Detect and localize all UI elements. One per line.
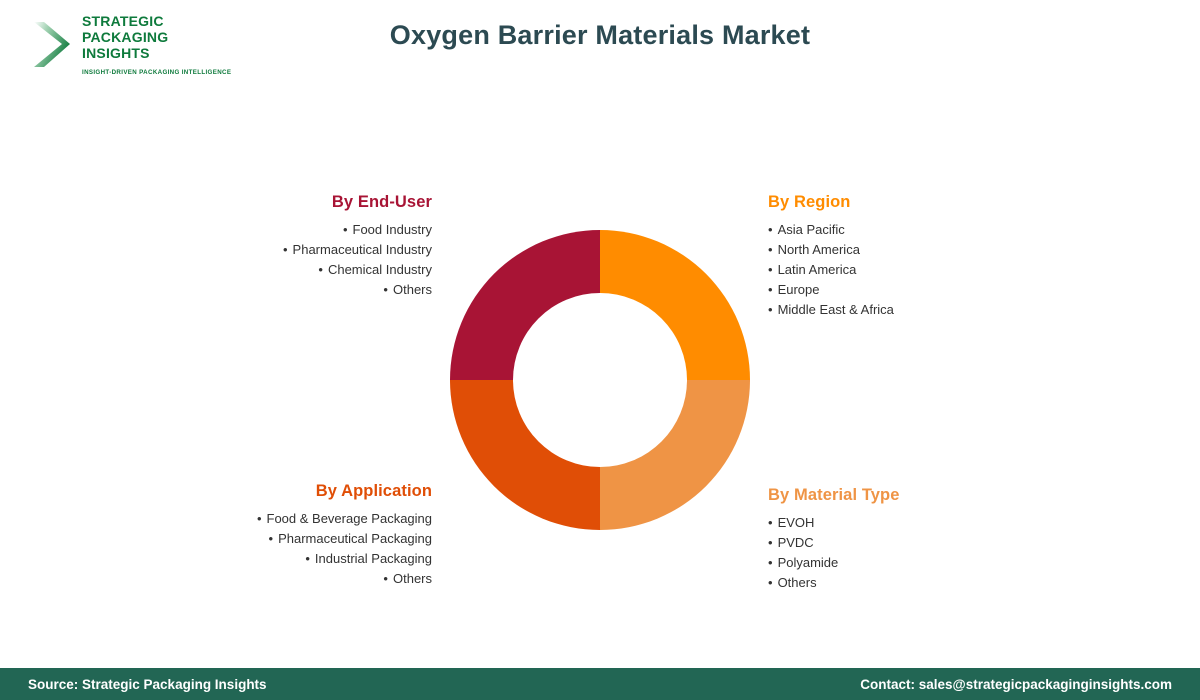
list-item-label: Others [778, 575, 817, 590]
category-list-end-user: •Food Industry •Pharmaceutical Industry … [150, 220, 432, 300]
list-item-label: Pharmaceutical Packaging [278, 531, 432, 546]
list-item: •Others [768, 573, 1068, 593]
infographic-page: STRATEGIC PACKAGING INSIGHTS INSIGHT-DRI… [0, 0, 1200, 700]
page-title: Oxygen Barrier Materials Market [0, 20, 1200, 51]
list-item: •EVOH [768, 513, 1068, 533]
category-heading-region: By Region [768, 193, 1068, 212]
bullet-icon: • [283, 242, 288, 257]
list-item: •Industrial Packaging [130, 549, 432, 569]
list-item-label: Asia Pacific [778, 222, 845, 237]
list-item-label: Latin America [778, 262, 857, 277]
list-item-label: Food Industry [353, 222, 433, 237]
list-item-label: PVDC [778, 535, 814, 550]
footer-bar: Source: Strategic Packaging Insights Con… [0, 668, 1200, 700]
donut-hole [513, 293, 687, 467]
category-block-material-type: By Material Type •EVOH •PVDC •Polyamide … [768, 486, 1068, 593]
bullet-icon: • [768, 555, 773, 570]
list-item-label: Europe [778, 282, 820, 297]
bullet-icon: • [343, 222, 348, 237]
footer-source: Source: Strategic Packaging Insights [28, 677, 267, 692]
bullet-icon: • [768, 242, 773, 257]
bullet-icon: • [383, 571, 388, 586]
category-block-region: By Region •Asia Pacific •North America •… [768, 193, 1068, 320]
list-item-label: Others [393, 282, 432, 297]
bullet-icon: • [257, 511, 262, 526]
bullet-icon: • [305, 551, 310, 566]
category-heading-end-user: By End-User [150, 193, 432, 212]
bullet-icon: • [768, 262, 773, 277]
list-item-label: Food & Beverage Packaging [267, 511, 433, 526]
donut-chart [450, 230, 750, 530]
bullet-icon: • [768, 535, 773, 550]
category-heading-material-type: By Material Type [768, 486, 1068, 505]
list-item: •Latin America [768, 260, 1068, 280]
donut-chart-svg [450, 230, 750, 530]
category-block-end-user: By End-User •Food Industry •Pharmaceutic… [150, 193, 432, 300]
bullet-icon: • [383, 282, 388, 297]
bullet-icon: • [768, 222, 773, 237]
category-list-application: •Food & Beverage Packaging •Pharmaceutic… [130, 509, 432, 589]
category-list-region: •Asia Pacific •North America •Latin Amer… [768, 220, 1068, 320]
list-item-label: Industrial Packaging [315, 551, 432, 566]
list-item-label: Polyamide [778, 555, 839, 570]
list-item-label: North America [778, 242, 860, 257]
list-item: •Middle East & Africa [768, 300, 1068, 320]
list-item: •North America [768, 240, 1068, 260]
category-block-application: By Application •Food & Beverage Packagin… [130, 482, 432, 589]
list-item-label: Pharmaceutical Industry [293, 242, 432, 257]
list-item: •Polyamide [768, 553, 1068, 573]
bullet-icon: • [318, 262, 323, 277]
footer-contact[interactable]: Contact: sales@strategicpackaginginsight… [860, 677, 1172, 692]
list-item: •Food Industry [150, 220, 432, 240]
list-item: •PVDC [768, 533, 1068, 553]
list-item-label: Chemical Industry [328, 262, 432, 277]
list-item: •Others [130, 569, 432, 589]
list-item: •Asia Pacific [768, 220, 1068, 240]
bullet-icon: • [768, 282, 773, 297]
list-item-label: EVOH [778, 515, 815, 530]
bullet-icon: • [768, 515, 773, 530]
bullet-icon: • [768, 575, 773, 590]
list-item: •Pharmaceutical Packaging [130, 529, 432, 549]
list-item: •Food & Beverage Packaging [130, 509, 432, 529]
category-heading-application: By Application [130, 482, 432, 501]
bullet-icon: • [768, 302, 773, 317]
logo-tagline: INSIGHT-DRIVEN PACKAGING INTELLIGENCE [82, 69, 231, 76]
bullet-icon: • [269, 531, 274, 546]
list-item-label: Middle East & Africa [778, 302, 894, 317]
list-item-label: Others [393, 571, 432, 586]
list-item: •Europe [768, 280, 1068, 300]
category-list-material-type: •EVOH •PVDC •Polyamide •Others [768, 513, 1068, 593]
list-item: •Others [150, 280, 432, 300]
list-item: •Pharmaceutical Industry [150, 240, 432, 260]
list-item: •Chemical Industry [150, 260, 432, 280]
